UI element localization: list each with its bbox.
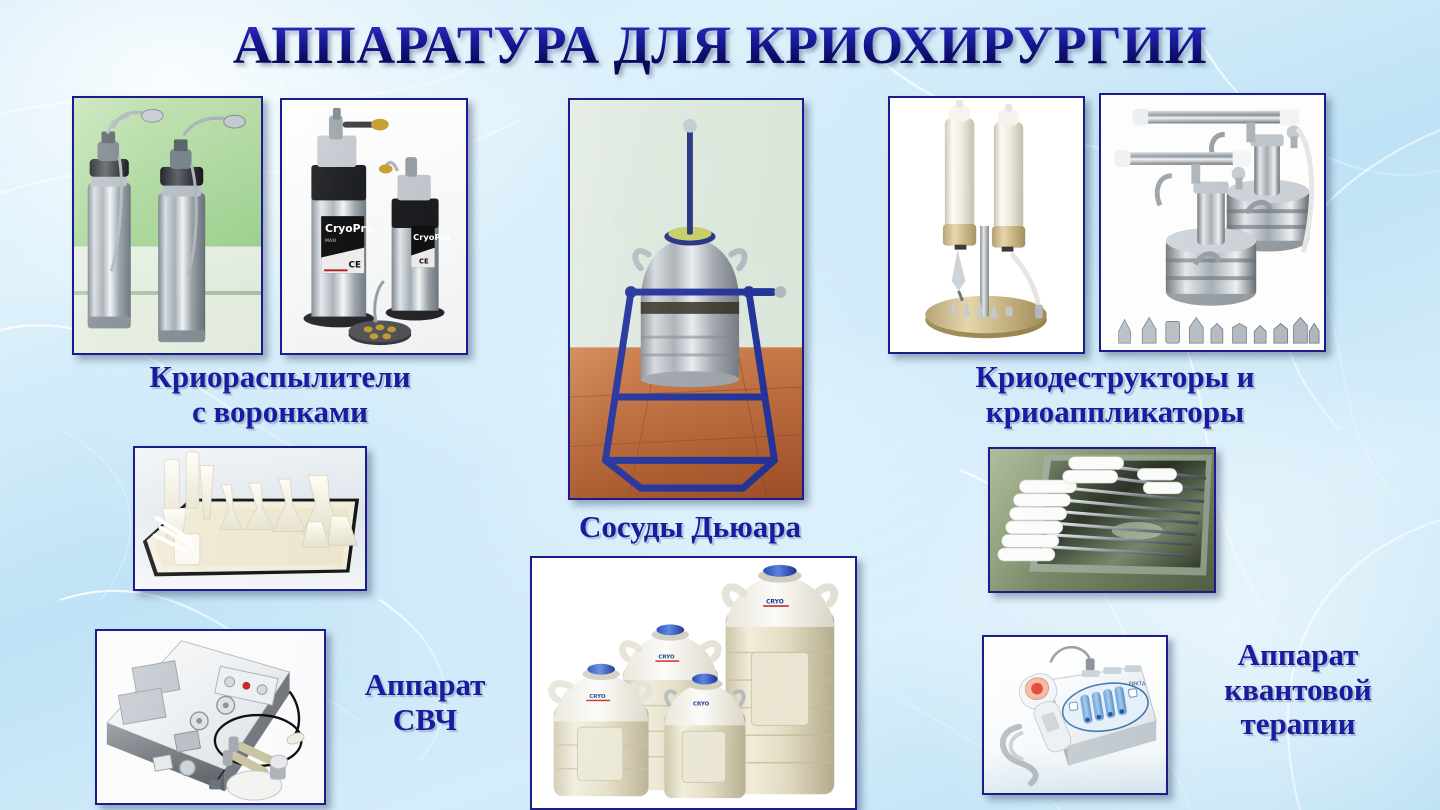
dewar-small: CRYO (664, 674, 745, 799)
svg-text:CE: CE (349, 260, 361, 270)
photo-cryopro-devices: CryoPro MAXI CE CryoPro (282, 100, 466, 353)
photo-frame-dewar-on-stand (568, 98, 804, 500)
svg-text:MAXI: MAXI (325, 238, 336, 244)
svg-text:РИКТА: РИКТА (1129, 682, 1146, 688)
caption-dewar-vessels: Сосуды Дьюара (490, 510, 890, 545)
slide-canvas: АППАРАТУРА ДЛЯ КРИОХИРУРГИИ (0, 0, 1440, 810)
svg-text:CRYO: CRYO (589, 694, 606, 700)
caption-quantum-device: Аппарат квантовой терапии (1168, 638, 1428, 742)
caption-cryo-destructors: Криодеструкторы и криоаппликаторы (905, 360, 1325, 429)
photo-dewar-on-stand (570, 100, 802, 498)
interchangeable-tips (1119, 318, 1319, 344)
photo-frame-dewar-group: CRYO CRYO (530, 556, 857, 810)
caption-cryo-sprayers: Криораспылители с воронками (60, 360, 500, 429)
svg-text:CryoPro: CryoPro (413, 232, 450, 242)
photo-frame-cryopro-devices: CryoPro MAXI CE CryoPro (280, 98, 468, 355)
photo-cryo-handpieces (890, 98, 1083, 352)
photo-frame-quantum-console: РИКТА (982, 635, 1168, 795)
caption-microwave-device: Аппарат СВЧ (330, 668, 520, 737)
photo-frame-cryo-destructors (1099, 93, 1326, 352)
svg-text:CryoPro: CryoPro (325, 222, 373, 235)
photo-frame-microwave-console (95, 629, 326, 805)
svg-text:CRYO: CRYO (693, 702, 710, 708)
svg-text:CE: CE (419, 257, 429, 265)
photo-microwave-console (97, 631, 324, 803)
slide-title: АППАРАТУРА ДЛЯ КРИОХИРУРГИИ (0, 14, 1440, 76)
photo-dewar-group: CRYO CRYO (532, 558, 855, 808)
photo-cryo-spray-flasks (74, 98, 261, 353)
photo-quantum-console: РИКТА (984, 637, 1166, 793)
photo-funnel-tray (135, 448, 365, 589)
photo-cryo-destructors (1101, 95, 1324, 350)
photo-frame-cryo-spray-flasks (72, 96, 263, 355)
dewar-front-left: CRYO (552, 664, 649, 796)
svg-text:CRYO: CRYO (658, 654, 675, 660)
photo-applicator-tray (990, 449, 1214, 591)
photo-frame-cryo-handpieces (888, 96, 1085, 354)
photo-frame-funnel-tray (133, 446, 367, 591)
svg-text:CRYO: CRYO (766, 599, 784, 605)
photo-frame-applicator-tray (988, 447, 1216, 593)
